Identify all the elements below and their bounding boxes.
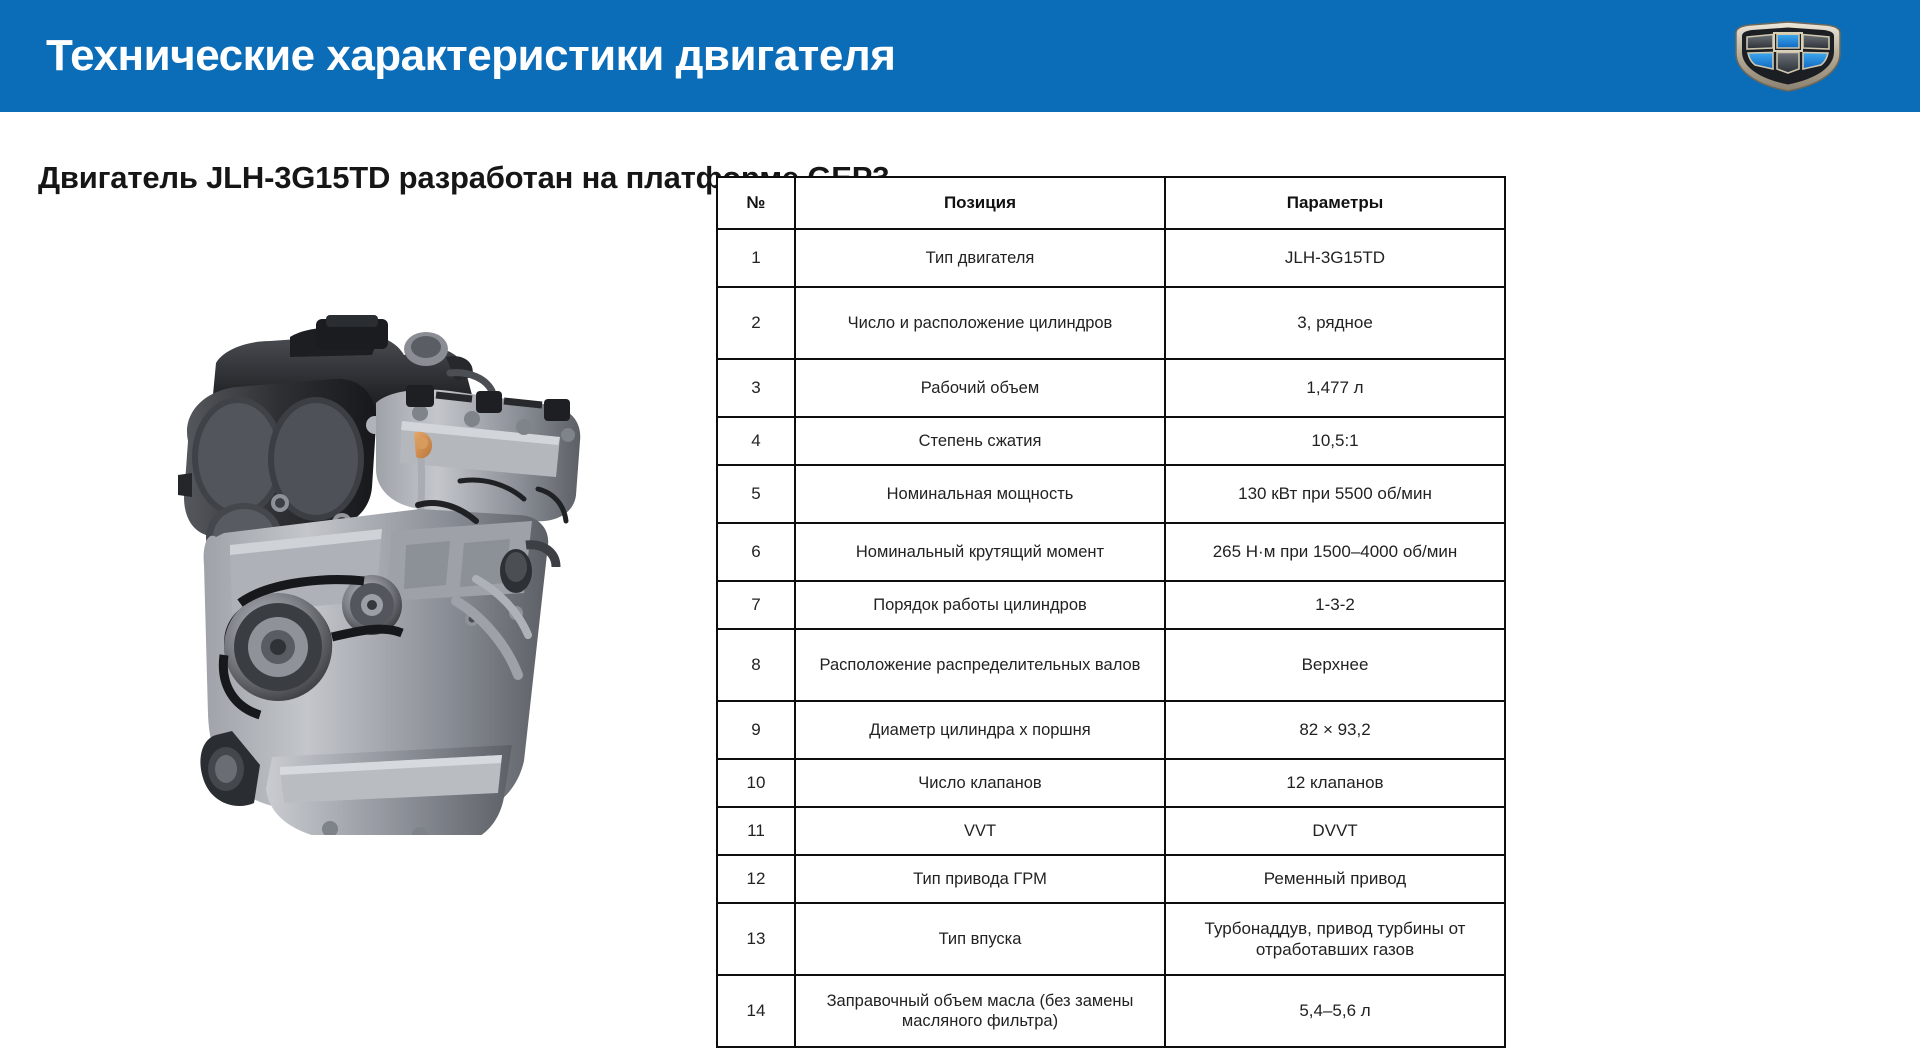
engine-photo bbox=[120, 245, 600, 835]
row-parameter: 10,5:1 bbox=[1165, 417, 1505, 465]
row-position: Порядок работы цилиндров bbox=[795, 581, 1165, 629]
table-row: 8 Расположение распределительных валов В… bbox=[717, 629, 1505, 701]
row-parameter: JLH-3G15TD bbox=[1165, 229, 1505, 287]
row-parameter: Верхнее bbox=[1165, 629, 1505, 701]
engine-spec-table: № Позиция Параметры 1 Тип двигателя JLH-… bbox=[716, 176, 1506, 1048]
page-header: Технические характеристики двигателя bbox=[0, 0, 1920, 112]
geely-shield-logo bbox=[1728, 19, 1848, 93]
table-row: 6 Номинальный крутящий момент 265 Н·м пр… bbox=[717, 523, 1505, 581]
row-parameter: DVVT bbox=[1165, 807, 1505, 855]
row-number: 6 bbox=[717, 523, 795, 581]
table-row: 12 Тип привода ГРМ Ременный привод bbox=[717, 855, 1505, 903]
row-position: Число клапанов bbox=[795, 759, 1165, 807]
row-parameter: 130 кВт при 5500 об/мин bbox=[1165, 465, 1505, 523]
row-parameter: 82 × 93,2 bbox=[1165, 701, 1505, 759]
row-position: Тип впуска bbox=[795, 903, 1165, 975]
row-number: 2 bbox=[717, 287, 795, 359]
row-position: Номинальный крутящий момент bbox=[795, 523, 1165, 581]
row-position: Степень сжатия bbox=[795, 417, 1165, 465]
table-row: 3 Рабочий объем 1,477 л bbox=[717, 359, 1505, 417]
row-position: Тип привода ГРМ bbox=[795, 855, 1165, 903]
row-position: Диаметр цилиндра x поршня bbox=[795, 701, 1165, 759]
table-row: 2 Число и расположение цилиндров 3, рядн… bbox=[717, 287, 1505, 359]
row-parameter: 5,4–5,6 л bbox=[1165, 975, 1505, 1047]
row-number: 3 bbox=[717, 359, 795, 417]
engine-photo-graphic bbox=[120, 245, 600, 835]
table-header-row: № Позиция Параметры bbox=[717, 177, 1505, 229]
row-position: Тип двигателя bbox=[795, 229, 1165, 287]
page-title: Технические характеристики двигателя bbox=[46, 31, 895, 81]
row-number: 4 bbox=[717, 417, 795, 465]
row-parameter: 265 Н·м при 1500–4000 об/мин bbox=[1165, 523, 1505, 581]
table-row: 1 Тип двигателя JLH-3G15TD bbox=[717, 229, 1505, 287]
row-parameter: 1,477 л bbox=[1165, 359, 1505, 417]
row-number: 11 bbox=[717, 807, 795, 855]
row-number: 12 bbox=[717, 855, 795, 903]
row-position: Рабочий объем bbox=[795, 359, 1165, 417]
row-position: Номинальная мощность bbox=[795, 465, 1165, 523]
row-number: 1 bbox=[717, 229, 795, 287]
row-parameter: 3, рядное bbox=[1165, 287, 1505, 359]
row-number: 10 bbox=[717, 759, 795, 807]
row-number: 5 bbox=[717, 465, 795, 523]
column-header-number: № bbox=[717, 177, 795, 229]
engine-spec-table-container: № Позиция Параметры 1 Тип двигателя JLH-… bbox=[716, 176, 1504, 1048]
table-row: 14 Заправочный объем масла (без замены м… bbox=[717, 975, 1505, 1047]
column-header-parameter: Параметры bbox=[1165, 177, 1505, 229]
row-position: Заправочный объем масла (без замены масл… bbox=[795, 975, 1165, 1047]
table-row: 4 Степень сжатия 10,5:1 bbox=[717, 417, 1505, 465]
row-parameter: 12 клапанов bbox=[1165, 759, 1505, 807]
table-row: 11 VVT DVVT bbox=[717, 807, 1505, 855]
table-row: 7 Порядок работы цилиндров 1-3-2 bbox=[717, 581, 1505, 629]
row-number: 14 bbox=[717, 975, 795, 1047]
row-number: 8 bbox=[717, 629, 795, 701]
row-number: 9 bbox=[717, 701, 795, 759]
row-position: VVT bbox=[795, 807, 1165, 855]
row-parameter: Турбонаддув, привод турбины от отработав… bbox=[1165, 903, 1505, 975]
column-header-position: Позиция bbox=[795, 177, 1165, 229]
table-row: 5 Номинальная мощность 130 кВт при 5500 … bbox=[717, 465, 1505, 523]
row-parameter: 1-3-2 bbox=[1165, 581, 1505, 629]
row-position: Расположение распределительных валов bbox=[795, 629, 1165, 701]
row-number: 7 bbox=[717, 581, 795, 629]
row-position: Число и расположение цилиндров bbox=[795, 287, 1165, 359]
table-row: 13 Тип впуска Турбонаддув, привод турбин… bbox=[717, 903, 1505, 975]
table-row: 9 Диаметр цилиндра x поршня 82 × 93,2 bbox=[717, 701, 1505, 759]
row-number: 13 bbox=[717, 903, 795, 975]
table-row: 10 Число клапанов 12 клапанов bbox=[717, 759, 1505, 807]
row-parameter: Ременный привод bbox=[1165, 855, 1505, 903]
